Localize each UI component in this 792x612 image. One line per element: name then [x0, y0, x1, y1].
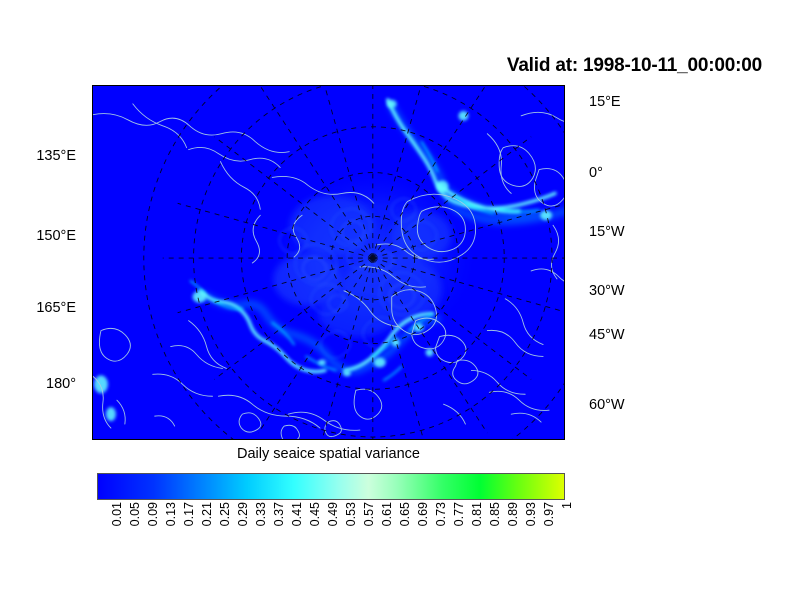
colorbar-tick-label: 0.25: [219, 502, 232, 526]
axis-label-left: 135°E: [0, 149, 76, 164]
axis-label-right: 30°W: [589, 284, 625, 299]
colorbar-gradient: [97, 473, 565, 500]
colorbar-tick-label: 0.65: [399, 502, 412, 526]
colorbar-tick-label: 0.01: [111, 502, 124, 526]
colorbar-tick-labels: 0.010.050.090.130.170.210.250.290.330.37…: [97, 502, 565, 562]
colorbar-tick-label: 0.05: [129, 502, 142, 526]
colorbar-tick-label: 0.97: [543, 502, 556, 526]
colorbar-tick-label: 0.45: [309, 502, 322, 526]
colorbar-tick-label: 0.41: [291, 502, 304, 526]
axis-label-left: 165°E: [0, 301, 76, 316]
colorbar-tick-label: 0.85: [489, 502, 502, 526]
colorbar: [97, 473, 565, 500]
axis-label-right: 60°W: [589, 398, 625, 413]
colorbar-tick-label: 0.89: [507, 502, 520, 526]
colorbar-tick-label: 0.81: [471, 502, 484, 526]
colorbar-tick-label: 0.29: [237, 502, 250, 526]
axis-label-right: 0°: [589, 166, 603, 181]
axis-label-left: 150°E: [0, 229, 76, 244]
colorbar-tick-label: 0.21: [201, 502, 214, 526]
colorbar-tick-label: 0.53: [345, 502, 358, 526]
axis-label-right: 45°W: [589, 328, 625, 343]
page-title: Valid at: 1998-10-11_00:00:00: [0, 55, 762, 77]
colorbar-tick-label: 0.13: [165, 502, 178, 526]
axis-label-left: 180°: [0, 377, 76, 392]
colorbar-tick-label: 0.33: [255, 502, 268, 526]
axis-label-right: 15°W: [589, 225, 625, 240]
colorbar-tick-label: 0.37: [273, 502, 286, 526]
axis-label-right: 15°E: [589, 95, 621, 110]
colorbar-tick-label: 0.93: [525, 502, 538, 526]
map-plot-area: [92, 85, 565, 440]
colorbar-tick-label: 0.57: [363, 502, 376, 526]
colorbar-tick-label: 0.69: [417, 502, 430, 526]
colorbar-tick-label: 0.61: [381, 502, 394, 526]
plot-caption: Daily seaice spatial variance: [92, 446, 565, 462]
map-canvas: [93, 86, 564, 439]
colorbar-tick-label: 0.49: [327, 502, 340, 526]
colorbar-tick-label: 0.17: [183, 502, 196, 526]
colorbar-tick-label: 1: [561, 502, 574, 509]
colorbar-tick-label: 0.09: [147, 502, 160, 526]
colorbar-tick-label: 0.73: [435, 502, 448, 526]
colorbar-tick-label: 0.77: [453, 502, 466, 526]
